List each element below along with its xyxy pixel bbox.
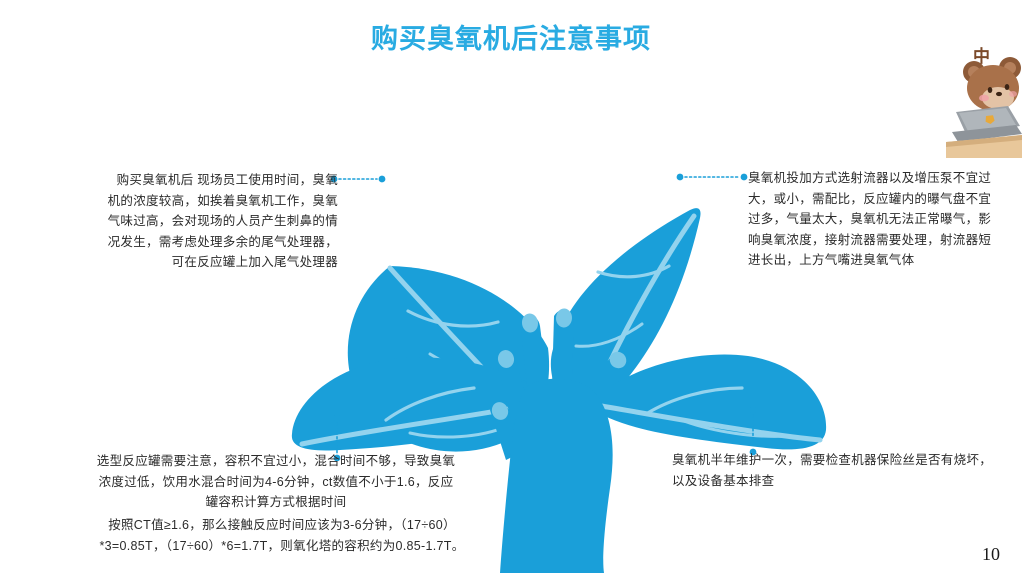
callout-top-right: 臭氧机投加方式选射流器以及增压泵不宜过大，或小，需配比，反应罐内的曝气盘不宜过多… — [748, 168, 992, 271]
callout-bottom-formula: 按照CT值≥1.6，那么接触反应时间应该为3-6分钟，（17÷60）*3=0.8… — [96, 515, 468, 556]
page-number: 10 — [982, 544, 1000, 565]
connector-bottom-right — [746, 406, 760, 456]
callout-bottom-right: 臭氧机半年维护一次，需要检查机器保险丝是否有烧坏，以及设备基本排查 — [672, 450, 1002, 491]
connector-top-right — [676, 170, 748, 184]
page-title: 购买臭氧机后注意事项 — [0, 22, 1022, 56]
connector-top-left — [330, 172, 386, 186]
callout-bottom-left: 选型反应罐需要注意，容积不宜过小，混合时间不够，导致臭氧浓度过低，饮用水混合时间… — [96, 451, 456, 513]
callout-top-left: 购买臭氧机后 现场员工使用时间，臭氧机的浓度较高，如挨着臭氧机工作，臭氧气味过高… — [106, 170, 338, 273]
bear-with-laptop-icon — [946, 30, 1022, 158]
slide-canvas: 购买臭氧机后注意事项 中 — [0, 0, 1022, 583]
